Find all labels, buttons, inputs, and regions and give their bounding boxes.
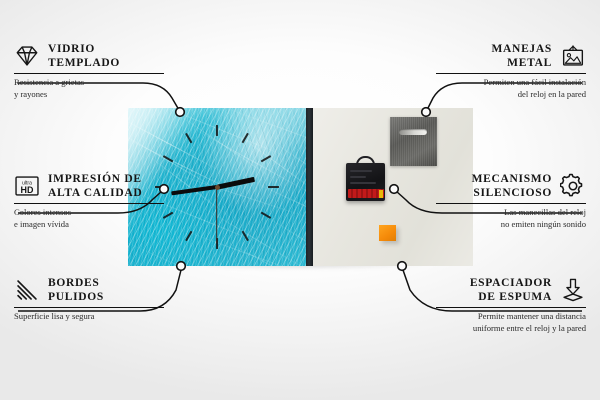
feature-divider [436,73,586,74]
clock-second-hand [216,187,217,243]
clock-minute-hand [171,185,217,195]
feature-manejas-metal: MANEJAS METAL Permiten una fácil instala… [436,42,586,100]
feature-impresion-alta-calidad: ultra HD IMPRESIÓN DE ALTA CALIDAD Color… [14,172,164,230]
foam-spacer [379,225,396,241]
hour-marker [163,212,174,219]
feature-title: IMPRESIÓN DE ALTA CALIDAD [48,172,142,200]
feature-subtitle: Las manecillas del reloj no emiten ningú… [436,207,586,230]
svg-text:HD: HD [21,185,34,195]
feature-divider [14,73,164,74]
hour-marker [268,186,279,188]
mechanism-detail [350,176,366,178]
feature-title: MANEJAS METAL [492,42,553,70]
diamond-icon [14,43,40,69]
feature-subtitle: Permite mantener una distancia uniforme … [436,311,586,334]
feature-title: BORDES PULIDOS [48,276,104,304]
infographic-canvas: VIDRIO TEMPLADO Resistencia a grietas y … [0,0,600,400]
hour-marker [242,133,249,144]
ultra-hd-icon: ultra HD [14,173,40,199]
clock-edge [306,108,313,266]
product-photo [128,108,473,266]
hour-marker [261,212,272,219]
feature-divider [436,203,586,204]
feature-bordes-pulidos: BORDES PULIDOS Superficie lisa y segura [14,276,164,323]
hour-marker [163,155,174,162]
gear-icon [560,173,586,199]
feature-divider [14,307,164,308]
feature-divider [436,307,586,308]
mechanism-detail [350,170,372,172]
metal-hanger-plate [390,117,437,166]
press-down-arrow-icon [560,277,586,303]
mechanism-detail [350,182,376,184]
feature-vidrio-templado: VIDRIO TEMPLADO Resistencia a grietas y … [14,42,164,100]
mechanism-handle [356,156,375,165]
hanger-slot [399,129,427,135]
battery-terminal [379,190,383,198]
clock-mechanism [346,163,385,201]
feature-subtitle: Permiten una fácil instalación del reloj… [436,77,586,100]
hour-marker [261,155,272,162]
feature-subtitle: Colores intensos e imagen vívida [14,207,164,230]
hour-marker [185,231,192,242]
feature-title: ESPACIADOR DE ESPUMA [470,276,552,304]
feature-subtitle: Resistencia a grietas y rayones [14,77,164,100]
hour-marker [185,133,192,144]
feature-title: MECANISMO SILENCIOSO [472,172,552,200]
feature-title: VIDRIO TEMPLADO [48,42,120,70]
clock-center-cap [215,185,220,190]
polished-edge-icon [14,277,40,303]
feature-espaciador-espuma: ESPACIADOR DE ESPUMA Permite mantener un… [436,276,586,334]
clock-hour-hand [217,177,255,189]
wall-frame-hook-icon [560,43,586,69]
hour-marker [216,125,218,136]
feature-divider [14,203,164,204]
hour-marker [242,231,249,242]
feature-subtitle: Superficie lisa y segura [14,311,164,323]
feature-mecanismo-silencioso: MECANISMO SILENCIOSO Las manecillas del … [436,172,586,230]
